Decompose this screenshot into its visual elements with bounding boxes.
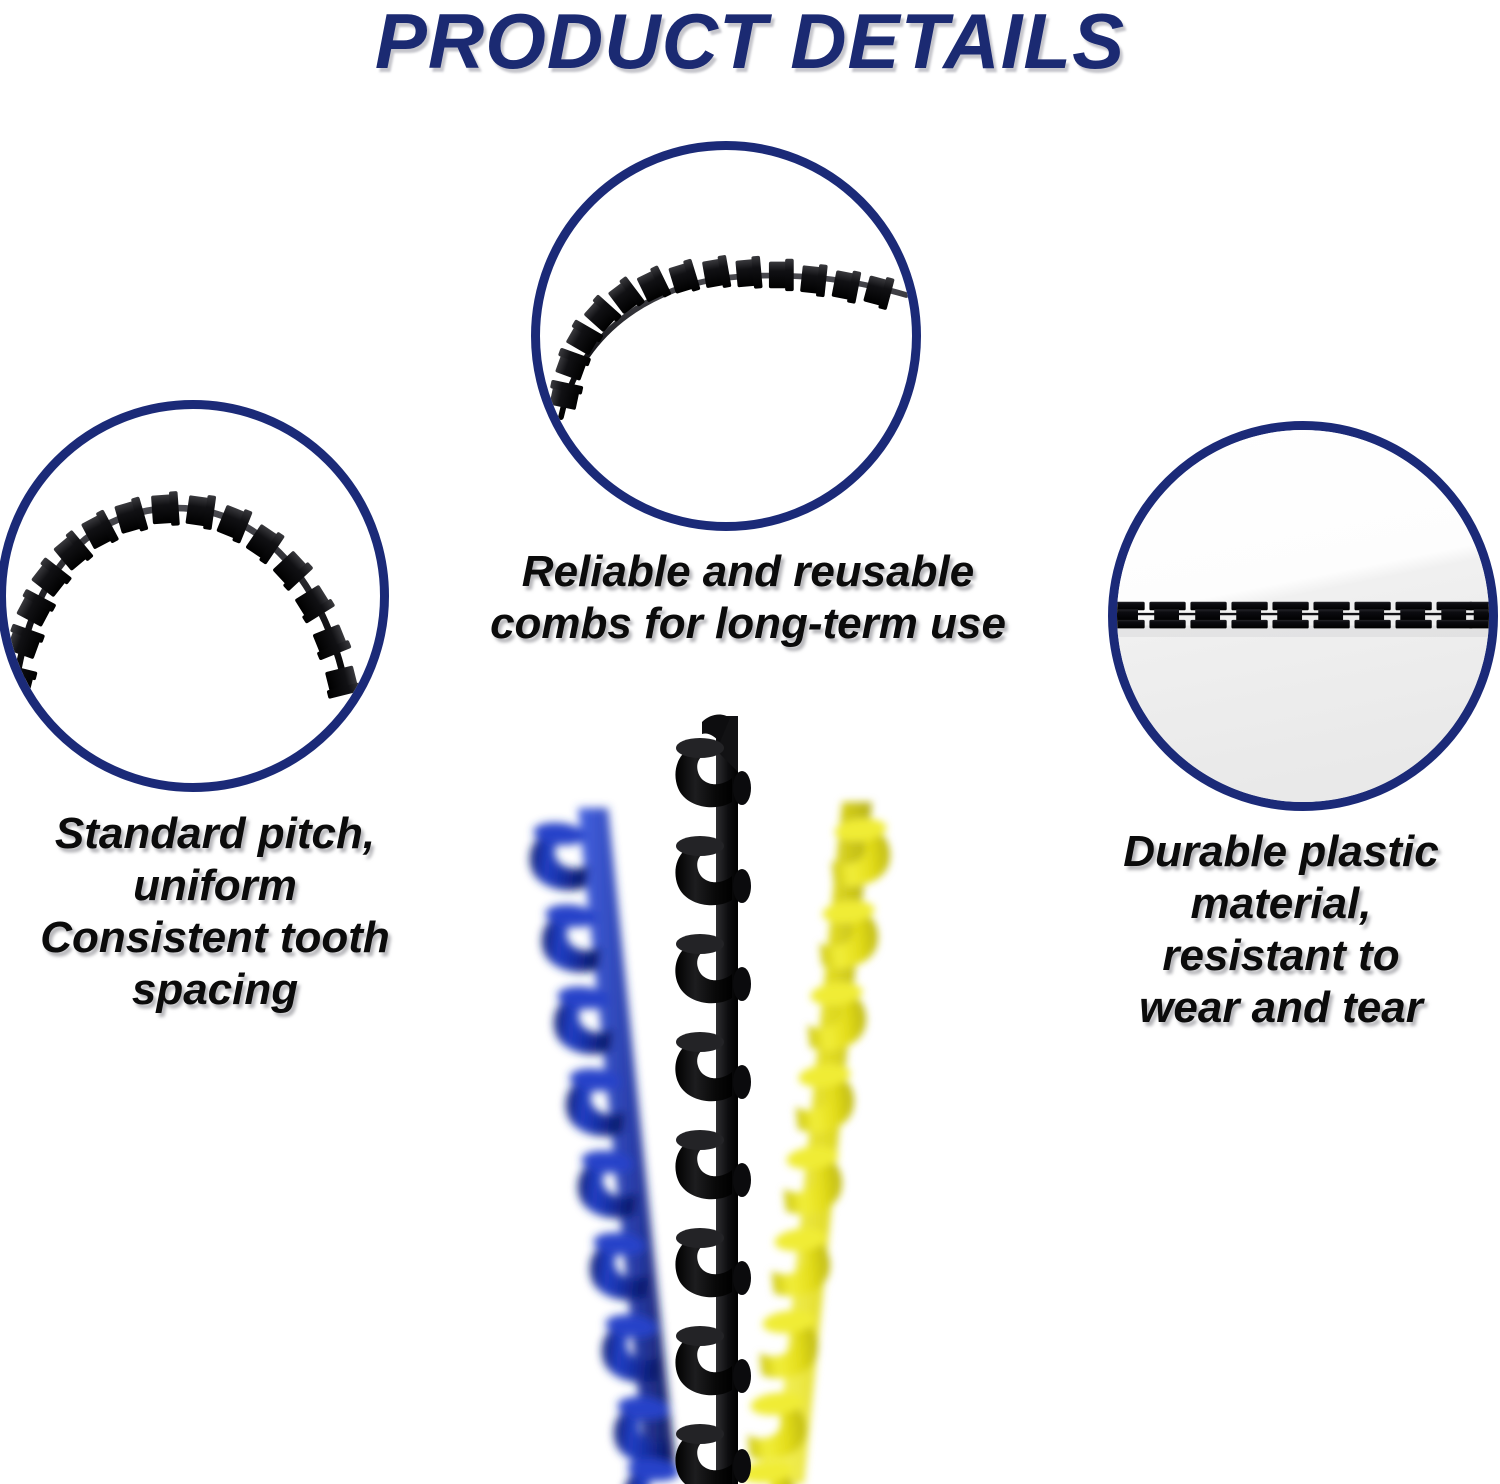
caption-center: Reliable and reusable combs for long-ter… [448,546,1048,650]
caption-line: combs for long-term use [448,598,1048,650]
infographic-canvas: PRODUCT DETAILS [0,0,1500,1484]
comb-teeth-row-icon [1117,430,1489,802]
caption-line: spacing [0,964,430,1016]
callout-circle-right [1108,421,1498,811]
caption-line: uniform [0,860,430,912]
comb-arc-teeth-icon [6,409,380,783]
caption-line: material, [1062,878,1500,930]
caption-line: Durable plastic [1062,826,1500,878]
caption-line: Standard pitch, [0,808,430,860]
blue-binding-comb [527,808,686,1484]
yellow-binding-comb [734,802,893,1484]
caption-line: wear and tear [1062,982,1500,1034]
callout-circle-center [531,141,921,531]
callout-circle-left [0,400,389,792]
caption-line: Reliable and reusable [448,546,1048,598]
caption-left: Standard pitch, uniform Consistent tooth… [0,808,430,1016]
black-binding-comb [675,715,751,1484]
caption-line: Consistent tooth [0,912,430,964]
comb-arc-teeth-icon [540,150,912,522]
caption-line: resistant to [1062,930,1500,982]
page-title: PRODUCT DETAILS [0,0,1500,87]
binding-combs-photo [470,680,950,1484]
caption-right: Durable plastic material, resistant to w… [1062,826,1500,1034]
